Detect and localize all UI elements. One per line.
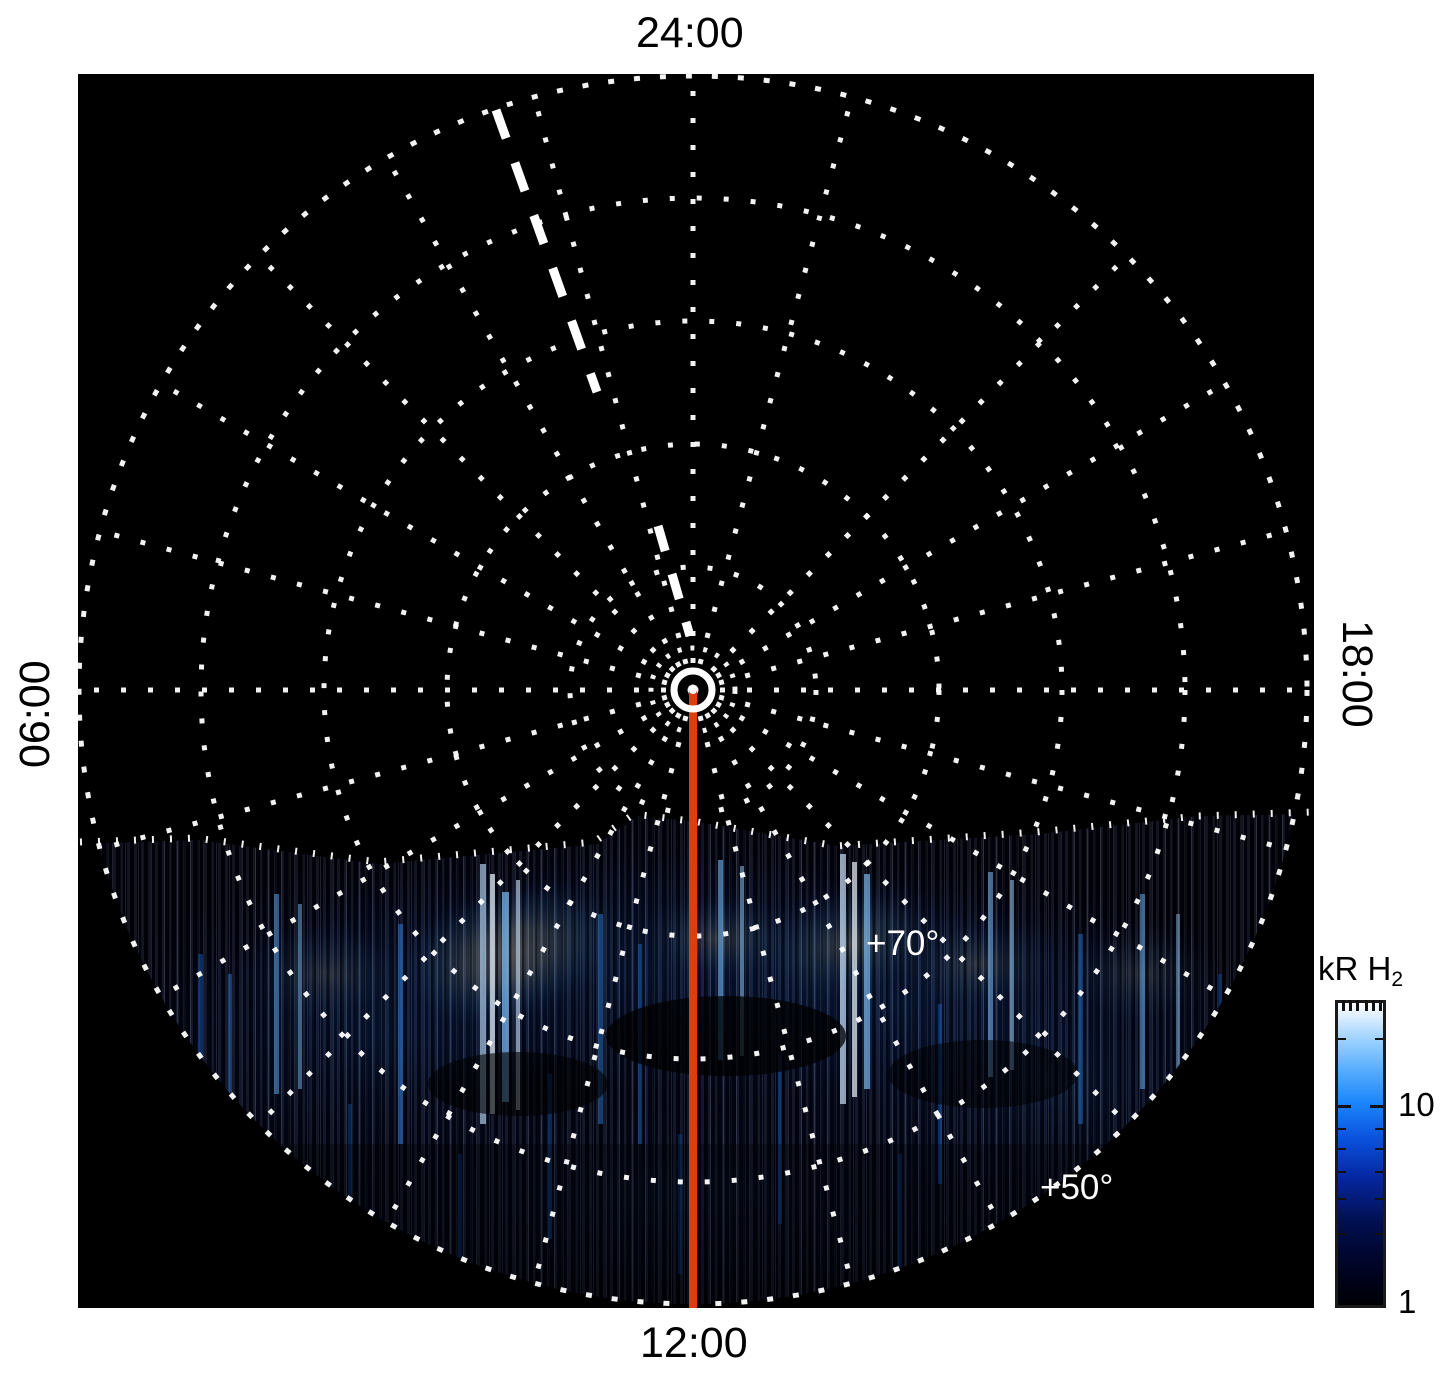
colorbar-minor-tick xyxy=(1375,1128,1383,1130)
colorbar-minor-tick xyxy=(1375,1198,1383,1200)
local-time-label-right: 18:00 xyxy=(1335,620,1378,728)
colorbar-major-tick-10 xyxy=(1370,1105,1383,1108)
colorbar-top-tick xyxy=(1372,1000,1375,1011)
colorbar-minor-tick xyxy=(1338,1128,1346,1130)
figure-root: +70° +50° 24:00 12:00 06:00 18:00 kR H2 xyxy=(0,0,1447,1384)
colorbar-top-tick xyxy=(1365,1000,1368,1011)
latitude-label-70: +70° xyxy=(866,924,939,964)
colorbar-top-tick xyxy=(1379,1000,1382,1011)
pole-marker-dot xyxy=(689,686,697,694)
colorbar-gradient[interactable] xyxy=(1335,1000,1386,1308)
colorbar-minor-tick xyxy=(1338,1198,1346,1200)
colorbar-minor-tick xyxy=(1375,1038,1383,1040)
colorbar-title-subscript: 2 xyxy=(1391,968,1403,991)
local-time-label-left: 06:00 xyxy=(14,660,57,768)
colorbar-top-tick xyxy=(1356,1000,1359,1011)
polar-plot-svg xyxy=(78,74,1314,1308)
colorbar-minor-tick xyxy=(1338,1171,1346,1173)
colorbar-top-tick xyxy=(1342,1000,1345,1011)
colorbar-minor-tick xyxy=(1375,1171,1383,1173)
local-time-label-bottom: 12:00 xyxy=(640,1322,748,1365)
latitude-label-50: +50° xyxy=(1040,1168,1113,1208)
colorbar-major-tick-10 xyxy=(1338,1105,1351,1108)
colorbar-top-tick xyxy=(1349,1000,1352,1011)
colorbar-minor-tick xyxy=(1375,1148,1383,1150)
colorbar-group[interactable]: kR H2 10 1 xyxy=(1318,950,1447,1330)
polar-plot-panel[interactable]: +70° +50° xyxy=(78,74,1314,1308)
colorbar-label-10: 10 xyxy=(1398,1086,1435,1124)
colorbar-minor-tick xyxy=(1375,1233,1383,1235)
local-time-label-top: 24:00 xyxy=(636,12,744,55)
colorbar-minor-tick xyxy=(1338,1038,1346,1040)
colorbar-title-text: kR H xyxy=(1318,950,1391,987)
colorbar-minor-tick xyxy=(1338,1148,1346,1150)
colorbar-label-1: 1 xyxy=(1398,1283,1416,1321)
colorbar-minor-tick xyxy=(1338,1233,1346,1235)
colorbar-title: kR H2 xyxy=(1318,950,1403,992)
